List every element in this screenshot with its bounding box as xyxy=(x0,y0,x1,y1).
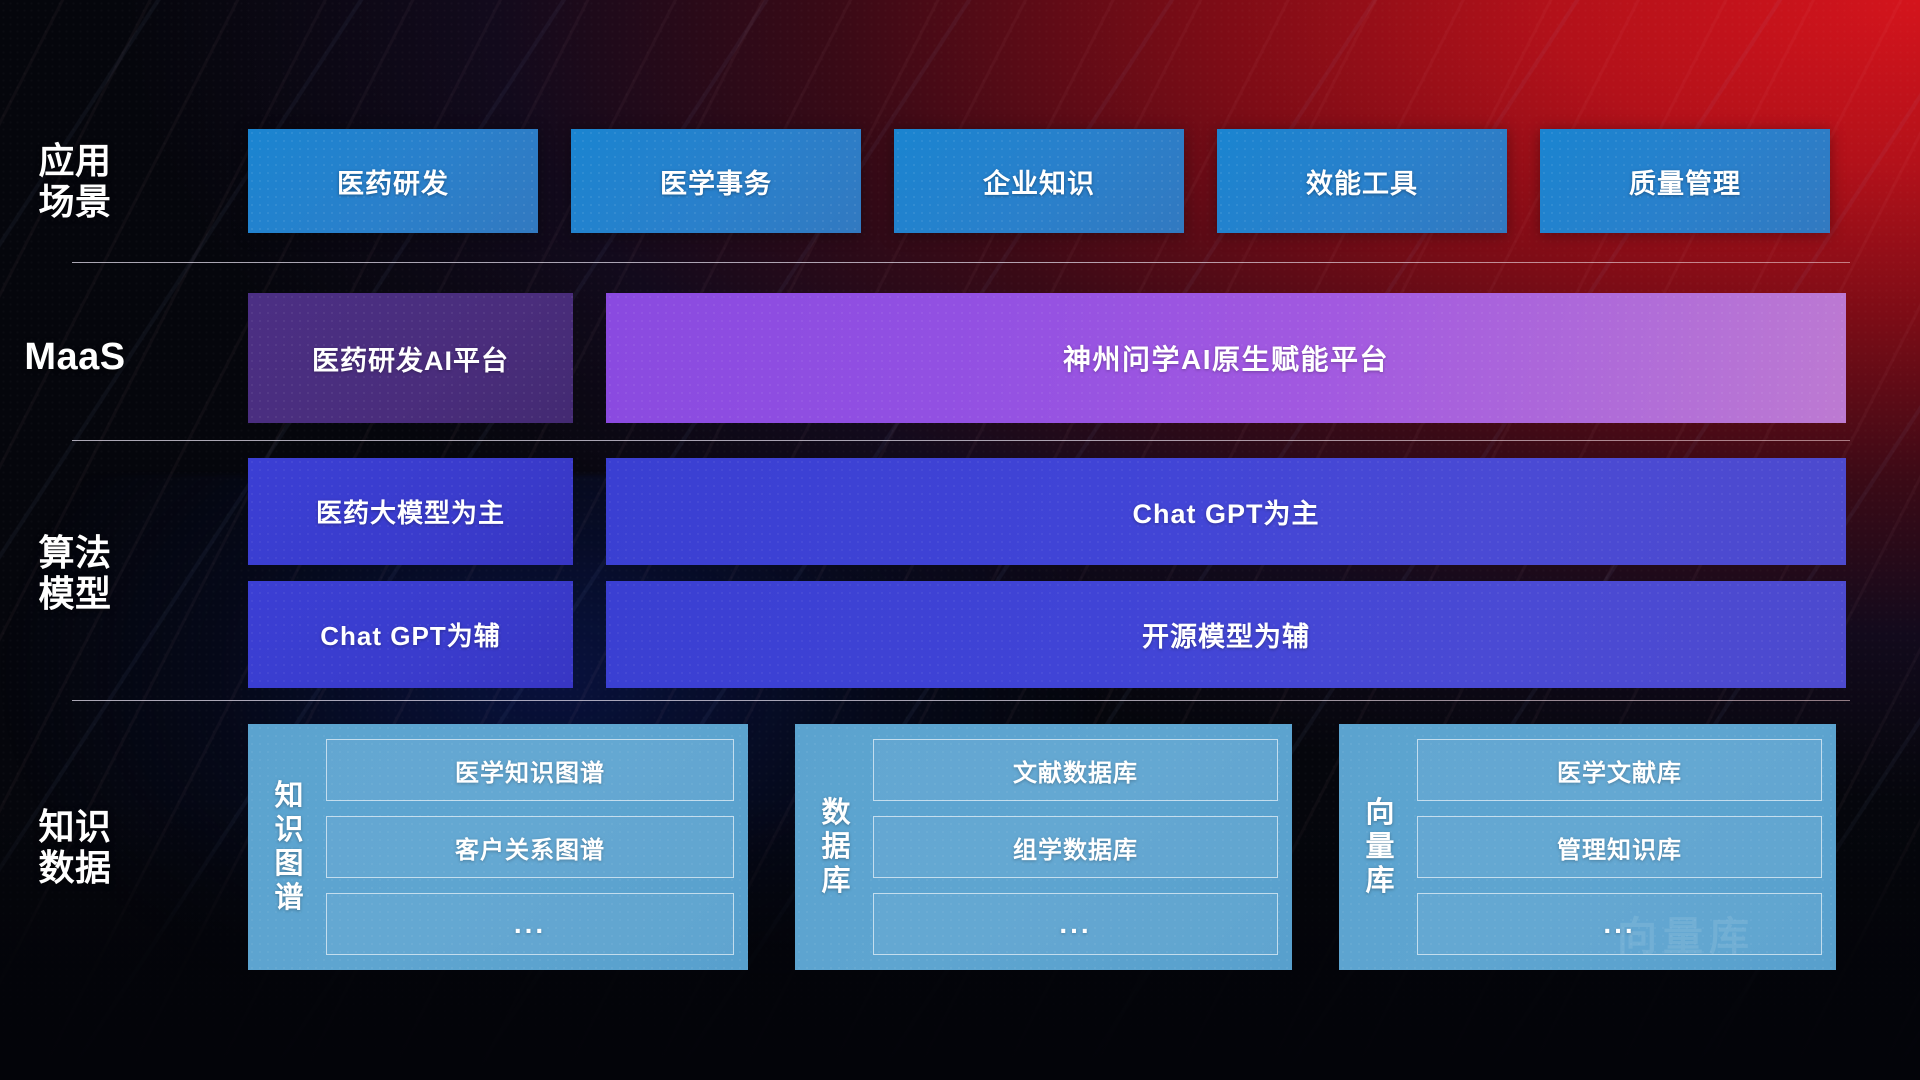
knowledge-group-title-char: 图 xyxy=(258,847,320,881)
application-card-track: 医药研发 医学事务 企业知识 效能工具 质量管理 xyxy=(248,129,1830,233)
knowledge-group-title: 数 据 库 xyxy=(805,796,867,899)
knowledge-group-track: 知 识 图 谱 医学知识图谱 客户关系图谱 ... 数 据 xyxy=(248,724,1836,970)
layer-knowledge-data: 知识 数据 知 识 图 谱 医学知识图谱 客户关系图谱 ... xyxy=(0,722,1920,972)
knowledge-group-title-char: 库 xyxy=(805,864,867,898)
application-card-efficiency-tools[interactable]: 效能工具 xyxy=(1217,129,1507,233)
maas-track: 医药研发AI平台 神州问学AI原生赋能平台 xyxy=(248,293,1846,423)
knowledge-item-more[interactable]: ... xyxy=(873,893,1278,955)
knowledge-item-literature-database[interactable]: 文献数据库 xyxy=(873,739,1278,801)
layer-label-line: 数据 xyxy=(0,847,150,888)
layer-label-line: MaaS xyxy=(0,336,150,379)
maas-card-label: 医药研发AI平台 xyxy=(312,339,509,378)
layer-maas: MaaS 医药研发AI平台 神州问学AI原生赋能平台 xyxy=(0,289,1920,427)
layer-label-line: 知识 xyxy=(0,806,150,847)
maas-card-shenzhou-wenxue-platform[interactable]: 神州问学AI原生赋能平台 xyxy=(606,293,1846,423)
application-card-label: 医药研发 xyxy=(337,162,449,201)
knowledge-group-title: 向 量 库 xyxy=(1349,796,1411,899)
layer-label-line: 场景 xyxy=(0,181,150,222)
knowledge-item-list: 医学知识图谱 客户关系图谱 ... xyxy=(326,739,734,955)
maas-card-drug-rd-ai-platform[interactable]: 医药研发AI平台 xyxy=(248,293,573,423)
knowledge-group-title-char: 数 xyxy=(805,796,867,830)
layer-application-scenarios: 应用 场景 医药研发 医学事务 企业知识 效能工具 质量管理 xyxy=(0,120,1920,242)
application-card-label: 质量管理 xyxy=(1629,162,1741,201)
knowledge-group-title-char: 据 xyxy=(805,830,867,864)
algorithm-card-label: Chat GPT为主 xyxy=(1132,492,1319,531)
layer-label-maas: MaaS xyxy=(0,336,150,379)
knowledge-group-knowledge-graph[interactable]: 知 识 图 谱 医学知识图谱 客户关系图谱 ... xyxy=(248,724,748,970)
divider-maas-algorithm xyxy=(72,440,1850,441)
knowledge-item-list: 医学文献库 管理知识库 ... xyxy=(1417,739,1822,955)
divider-algorithm-knowledge xyxy=(72,700,1850,701)
layer-label-knowledge-data: 知识 数据 xyxy=(0,806,150,888)
application-card-quality-management[interactable]: 质量管理 xyxy=(1540,129,1830,233)
algorithm-card-opensource-secondary[interactable]: 开源模型为辅 xyxy=(606,581,1846,688)
application-card-label: 企业知识 xyxy=(983,162,1095,201)
knowledge-group-title-char: 识 xyxy=(258,813,320,847)
slide-canvas: 应用 场景 医药研发 医学事务 企业知识 效能工具 质量管理 xyxy=(0,0,1920,1080)
layer-label-line: 算法 xyxy=(0,532,150,573)
layer-label-line: 模型 xyxy=(0,573,150,614)
application-card-label: 医学事务 xyxy=(660,162,772,201)
algorithm-track: 医药大模型为主 Chat GPT为主 Chat GPT为辅 开源模型为辅 xyxy=(248,458,1846,688)
algorithm-card-label: 医药大模型为主 xyxy=(316,493,505,530)
architecture-diagram: 应用 场景 医药研发 医学事务 企业知识 效能工具 质量管理 xyxy=(0,0,1920,1080)
knowledge-group-database[interactable]: 数 据 库 文献数据库 组学数据库 ... xyxy=(795,724,1292,970)
knowledge-item-customer-relation-graph[interactable]: 客户关系图谱 xyxy=(326,816,734,878)
knowledge-group-title-char: 谱 xyxy=(258,881,320,915)
knowledge-group-title-char: 库 xyxy=(1349,864,1411,898)
knowledge-item-more[interactable]: ... xyxy=(326,893,734,955)
knowledge-group-title-char: 向 xyxy=(1349,796,1411,830)
knowledge-item-medical-knowledge-graph[interactable]: 医学知识图谱 xyxy=(326,739,734,801)
knowledge-item-omics-database[interactable]: 组学数据库 xyxy=(873,816,1278,878)
knowledge-group-vector-store[interactable]: 向 量 库 医学文献库 管理知识库 ... xyxy=(1339,724,1836,970)
algorithm-card-chatgpt-secondary[interactable]: Chat GPT为辅 xyxy=(248,581,573,688)
algorithm-card-chatgpt-primary[interactable]: Chat GPT为主 xyxy=(606,458,1846,565)
knowledge-group-title-char: 知 xyxy=(258,779,320,813)
divider-apps-maas xyxy=(72,262,1850,263)
layer-label-algorithm-model: 算法 模型 xyxy=(0,532,150,614)
layer-label-application-scenarios: 应用 场景 xyxy=(0,140,150,222)
maas-card-label: 神州问学AI原生赋能平台 xyxy=(1063,338,1389,378)
layer-algorithm-model: 算法 模型 医药大模型为主 Chat GPT为主 Chat GPT为辅 xyxy=(0,458,1920,688)
knowledge-item-medical-literature-store[interactable]: 医学文献库 xyxy=(1417,739,1822,801)
algorithm-row-secondary: Chat GPT为辅 开源模型为辅 xyxy=(248,581,1846,688)
application-card-drug-rd[interactable]: 医药研发 xyxy=(248,129,538,233)
application-card-medical-affairs[interactable]: 医学事务 xyxy=(571,129,861,233)
application-card-label: 效能工具 xyxy=(1306,162,1418,201)
knowledge-group-title-char: 量 xyxy=(1349,830,1411,864)
algorithm-card-pharma-llm-primary[interactable]: 医药大模型为主 xyxy=(248,458,573,565)
knowledge-item-more[interactable]: ... xyxy=(1417,893,1822,955)
algorithm-card-label: Chat GPT为辅 xyxy=(320,616,500,653)
knowledge-group-title: 知 识 图 谱 xyxy=(258,779,320,916)
layer-label-line: 应用 xyxy=(0,140,150,181)
algorithm-card-label: 开源模型为辅 xyxy=(1142,615,1310,654)
knowledge-item-management-knowledge-store[interactable]: 管理知识库 xyxy=(1417,816,1822,878)
knowledge-item-list: 文献数据库 组学数据库 ... xyxy=(873,739,1278,955)
application-card-enterprise-knowledge[interactable]: 企业知识 xyxy=(894,129,1184,233)
algorithm-row-primary: 医药大模型为主 Chat GPT为主 xyxy=(248,458,1846,565)
